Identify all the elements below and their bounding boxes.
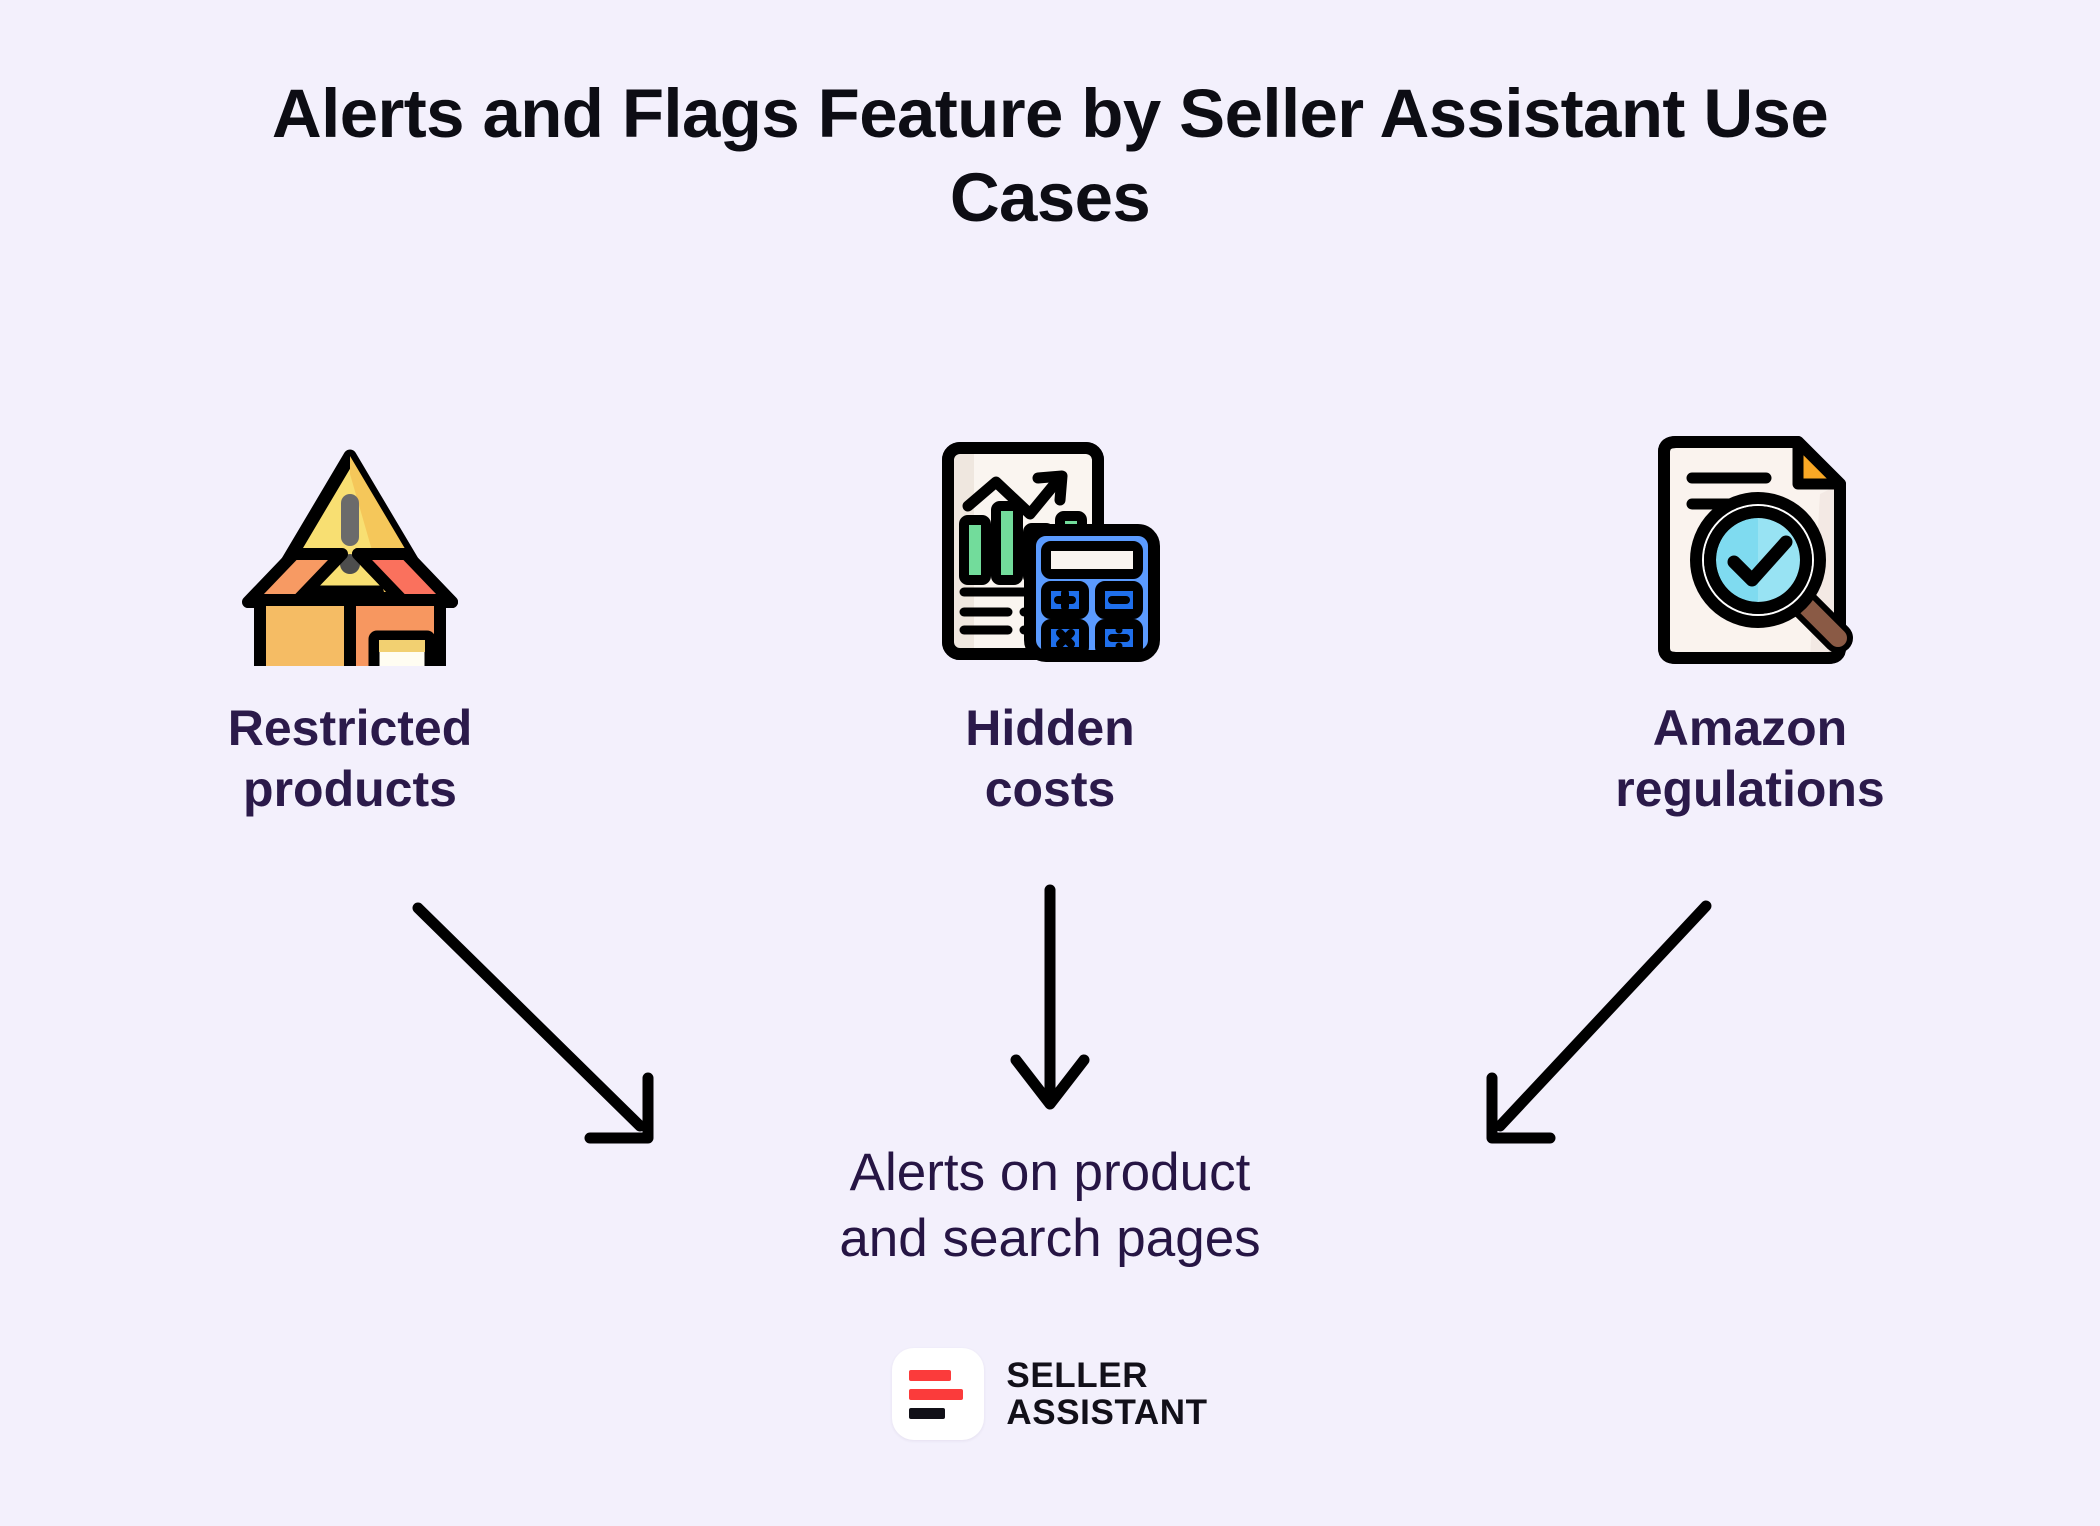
logo-text-line-2: ASSISTANT [1006,1394,1207,1431]
use-case-label-hidden-costs: Hidden costs [965,698,1134,820]
arrow-restricted-to-outcome [418,908,648,1138]
use-case-label-restricted-products: Restricted products [228,698,473,820]
use-case-amazon-regulations[interactable]: Amazon regulations [1400,420,2100,870]
infographic-canvas: Alerts and Flags Feature by Seller Assis… [0,0,2100,1526]
use-case-label-amazon-regulations: Amazon regulations [1615,698,1884,820]
seller-assistant-logo-text: SELLER ASSISTANT [1006,1357,1207,1431]
restricted-box-warning-icon [220,420,480,680]
arrow-hidden-costs-to-outcome [1016,890,1084,1104]
page-title: Alerts and Flags Feature by Seller Assis… [0,72,2100,240]
logo-text-line-1: SELLER [1006,1357,1207,1394]
report-calculator-icon [920,420,1180,680]
document-magnifier-check-icon [1620,420,1880,680]
logo-bar-2 [909,1389,963,1400]
outcome-text: Alerts on product and search pages [0,1140,2100,1273]
arrow-regulations-to-outcome [1492,906,1706,1138]
page-title-text: Alerts and Flags Feature by Seller Assis… [180,72,1920,240]
seller-assistant-logo-mark-icon [892,1348,984,1440]
logo-bar-3 [909,1408,945,1419]
use-case-hidden-costs[interactable]: Hidden costs [700,420,1400,870]
outcome-statement: Alerts on product and search pages [0,1140,2100,1273]
logo-bar-1 [909,1370,951,1381]
use-case-restricted-products[interactable]: Restricted products [0,420,700,870]
seller-assistant-logo[interactable]: SELLER ASSISTANT [0,1348,2100,1440]
use-case-columns: Restricted products [0,420,2100,870]
